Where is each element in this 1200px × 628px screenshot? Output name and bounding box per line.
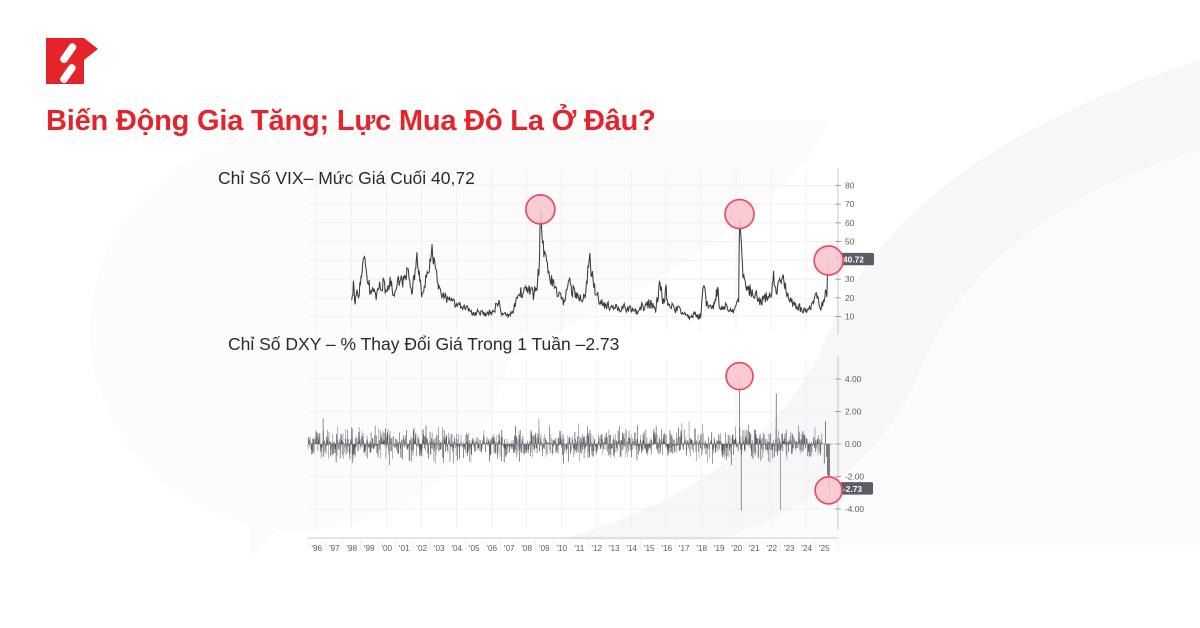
dxy-gridlines	[308, 360, 833, 528]
svg-text:'05: '05	[469, 544, 480, 553]
svg-text:'97: '97	[329, 544, 340, 553]
svg-text:40.72: 40.72	[843, 254, 864, 264]
svg-text:4.00: 4.00	[845, 374, 862, 384]
svg-text:'07: '07	[504, 544, 515, 553]
svg-text:'12: '12	[591, 544, 602, 553]
svg-text:'14: '14	[626, 544, 637, 553]
svg-text:'17: '17	[679, 544, 690, 553]
svg-text:80: 80	[845, 180, 855, 190]
svg-text:0.00: 0.00	[845, 439, 862, 449]
svg-text:'00: '00	[381, 544, 392, 553]
brand-logo-icon	[46, 38, 98, 88]
svg-text:50: 50	[845, 237, 855, 247]
chart-caption-dxy: Chỉ Số DXY – % Thay Đổi Giá Trong 1 Tuần…	[228, 334, 619, 355]
shared-x-axis: '96'97'98'99'00'01'02'03'04'05'06'07'08'…	[308, 538, 838, 553]
vix-highlights	[526, 195, 843, 275]
svg-text:'99: '99	[364, 544, 375, 553]
svg-text:40: 40	[845, 255, 855, 265]
charts-container: 102030405060708040.72 -4.00-2.000.002.00…	[0, 0, 1200, 628]
svg-text:'01: '01	[399, 544, 410, 553]
svg-text:'08: '08	[521, 544, 532, 553]
svg-text:'19: '19	[714, 544, 725, 553]
vix-y-axis: 102030405060708040.72	[835, 168, 874, 334]
background-watermark	[0, 0, 1200, 628]
svg-text:'13: '13	[609, 544, 620, 553]
svg-text:-2.00: -2.00	[845, 472, 864, 482]
svg-text:'96: '96	[311, 544, 322, 553]
svg-text:-2.73: -2.73	[843, 484, 862, 494]
dxy-y-axis: -4.00-2.000.002.004.00-2.73	[835, 356, 873, 530]
svg-text:'20: '20	[731, 544, 742, 553]
svg-text:'23: '23	[784, 544, 795, 553]
vix-gridlines	[308, 170, 833, 332]
svg-text:'21: '21	[749, 544, 760, 553]
svg-text:'09: '09	[539, 544, 550, 553]
svg-text:10: 10	[845, 312, 855, 322]
svg-text:'22: '22	[766, 544, 777, 553]
svg-text:'24: '24	[801, 544, 812, 553]
svg-text:30: 30	[845, 274, 855, 284]
svg-text:-4.00: -4.00	[845, 504, 864, 514]
svg-text:'10: '10	[556, 544, 567, 553]
dxy-bar-series	[308, 374, 833, 511]
svg-text:'06: '06	[486, 544, 497, 553]
svg-text:2.00: 2.00	[845, 407, 862, 417]
chart-caption-vix: Chỉ Số VIX– Mức Giá Cuối 40,72	[218, 168, 475, 189]
svg-text:'25: '25	[819, 544, 830, 553]
vix-line-series	[352, 210, 829, 320]
svg-text:'04: '04	[451, 544, 462, 553]
page-title: Biến Động Gia Tăng; Lực Mua Đô La Ở Đâu?	[46, 105, 1046, 138]
svg-text:60: 60	[845, 218, 855, 228]
svg-text:'15: '15	[644, 544, 655, 553]
svg-text:'03: '03	[434, 544, 445, 553]
dxy-highlights	[726, 363, 842, 504]
svg-text:'18: '18	[696, 544, 707, 553]
svg-text:'11: '11	[574, 544, 585, 553]
svg-text:'02: '02	[416, 544, 427, 553]
svg-text:'16: '16	[661, 544, 672, 553]
svg-text:20: 20	[845, 293, 855, 303]
svg-text:70: 70	[845, 199, 855, 209]
svg-text:'98: '98	[346, 544, 357, 553]
